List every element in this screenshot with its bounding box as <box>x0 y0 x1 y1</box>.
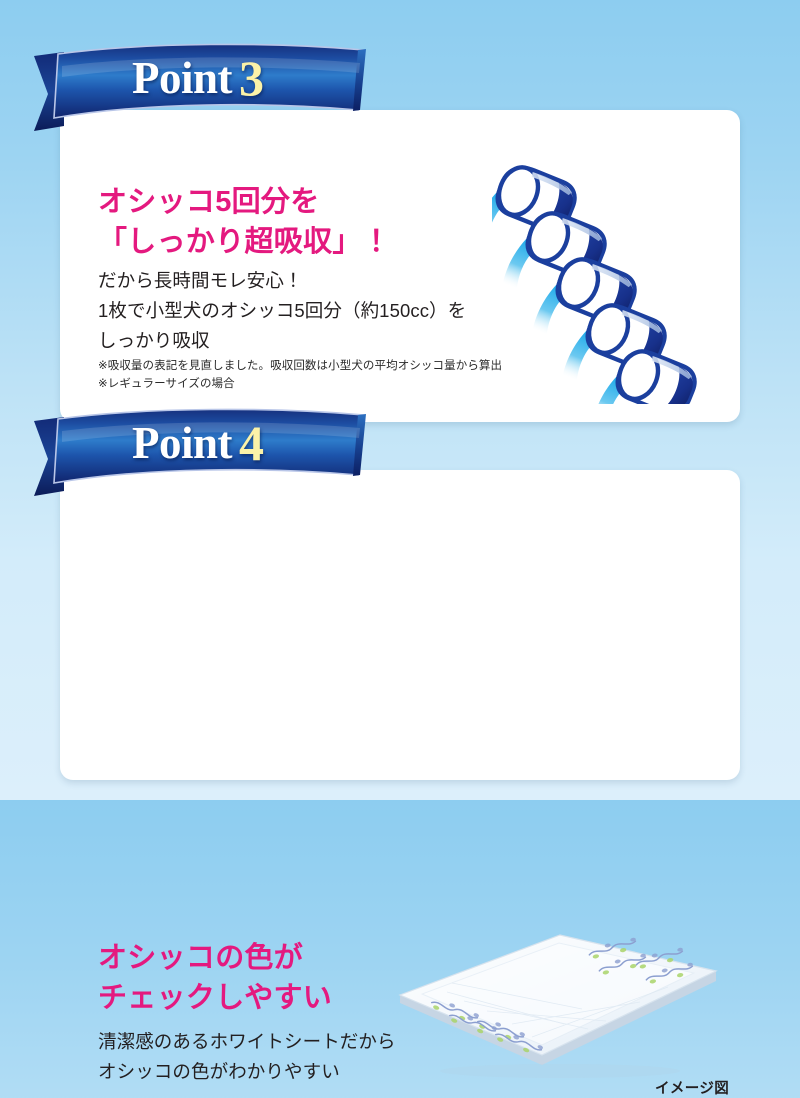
image-caption: イメージ図 <box>655 1077 729 1098</box>
pet-sheet-illustration <box>392 925 722 1095</box>
ribbon-banner-point-3: Point 3 <box>28 40 368 132</box>
body-text-point-3: だから長時間モレ安心！ 1枚で小型犬のオシッコ5回分（約150cc）を しっかり… <box>98 266 466 356</box>
headline-point-4: オシッコの色が チェックしやすい <box>98 938 332 1018</box>
ribbon-banner-point-4: Point 4 <box>28 405 368 497</box>
content-card-point-4 <box>60 470 740 780</box>
advertisement-stage: Point 3 オシッコ5回分を 「しっかり超吸収」！ だから長時間モレ安心！ … <box>0 0 800 800</box>
five-cups-illustration <box>492 152 724 404</box>
body-text-point-4: 清潔感のあるホワイトシートだから オシッコの色がわかりやすい <box>98 1027 396 1087</box>
headline-point-3: オシッコ5回分を 「しっかり超吸収」！ <box>98 182 391 262</box>
footnotes-point-3: ※吸収量の表記を見直しました。吸収回数は小型犬の平均オシッコ量から算出 ※レギュ… <box>98 357 502 393</box>
